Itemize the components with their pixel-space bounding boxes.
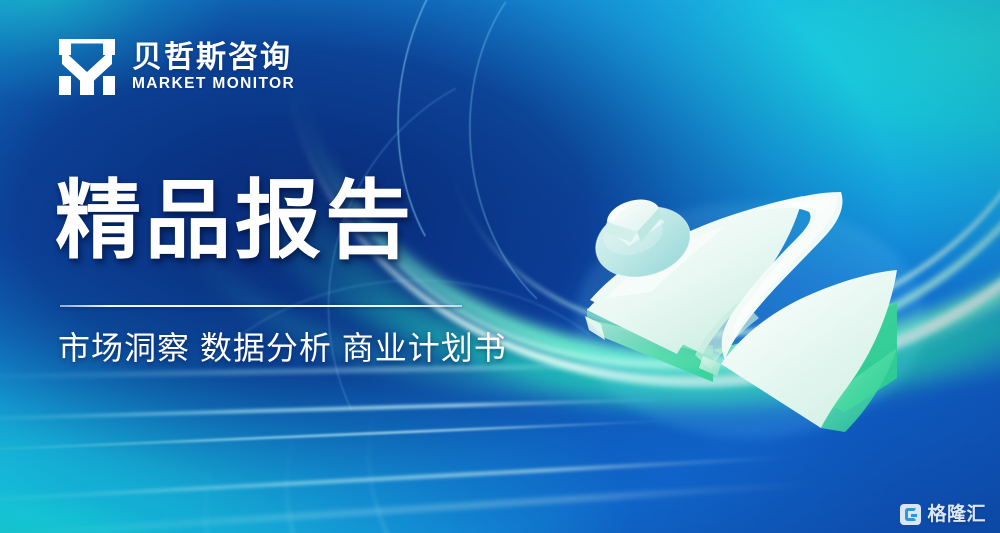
market-monitor-m-mark-icon bbox=[56, 36, 118, 98]
brand-lockup: 贝哲斯咨询 MARKET MONITOR bbox=[56, 36, 295, 98]
brand-name-cn: 贝哲斯咨询 bbox=[132, 43, 295, 73]
title-divider bbox=[60, 305, 462, 307]
open-book-3d-illustration bbox=[545, 150, 940, 440]
gelonghui-g-logo-icon bbox=[900, 504, 921, 525]
brand-text-block: 贝哲斯咨询 MARKET MONITOR bbox=[132, 43, 295, 92]
page-subtitle: 市场洞察 数据分析 商业计划书 bbox=[58, 329, 507, 367]
watermark: 格隆汇 bbox=[900, 504, 986, 525]
watermark-label: 格隆汇 bbox=[927, 505, 986, 524]
brand-name-en: MARKET MONITOR bbox=[132, 76, 295, 92]
page-title: 精品报告 bbox=[55, 176, 415, 267]
report-banner: 贝哲斯咨询 MARKET MONITOR 精品报告 市场洞察 数据分析 商业计划… bbox=[0, 0, 1000, 533]
